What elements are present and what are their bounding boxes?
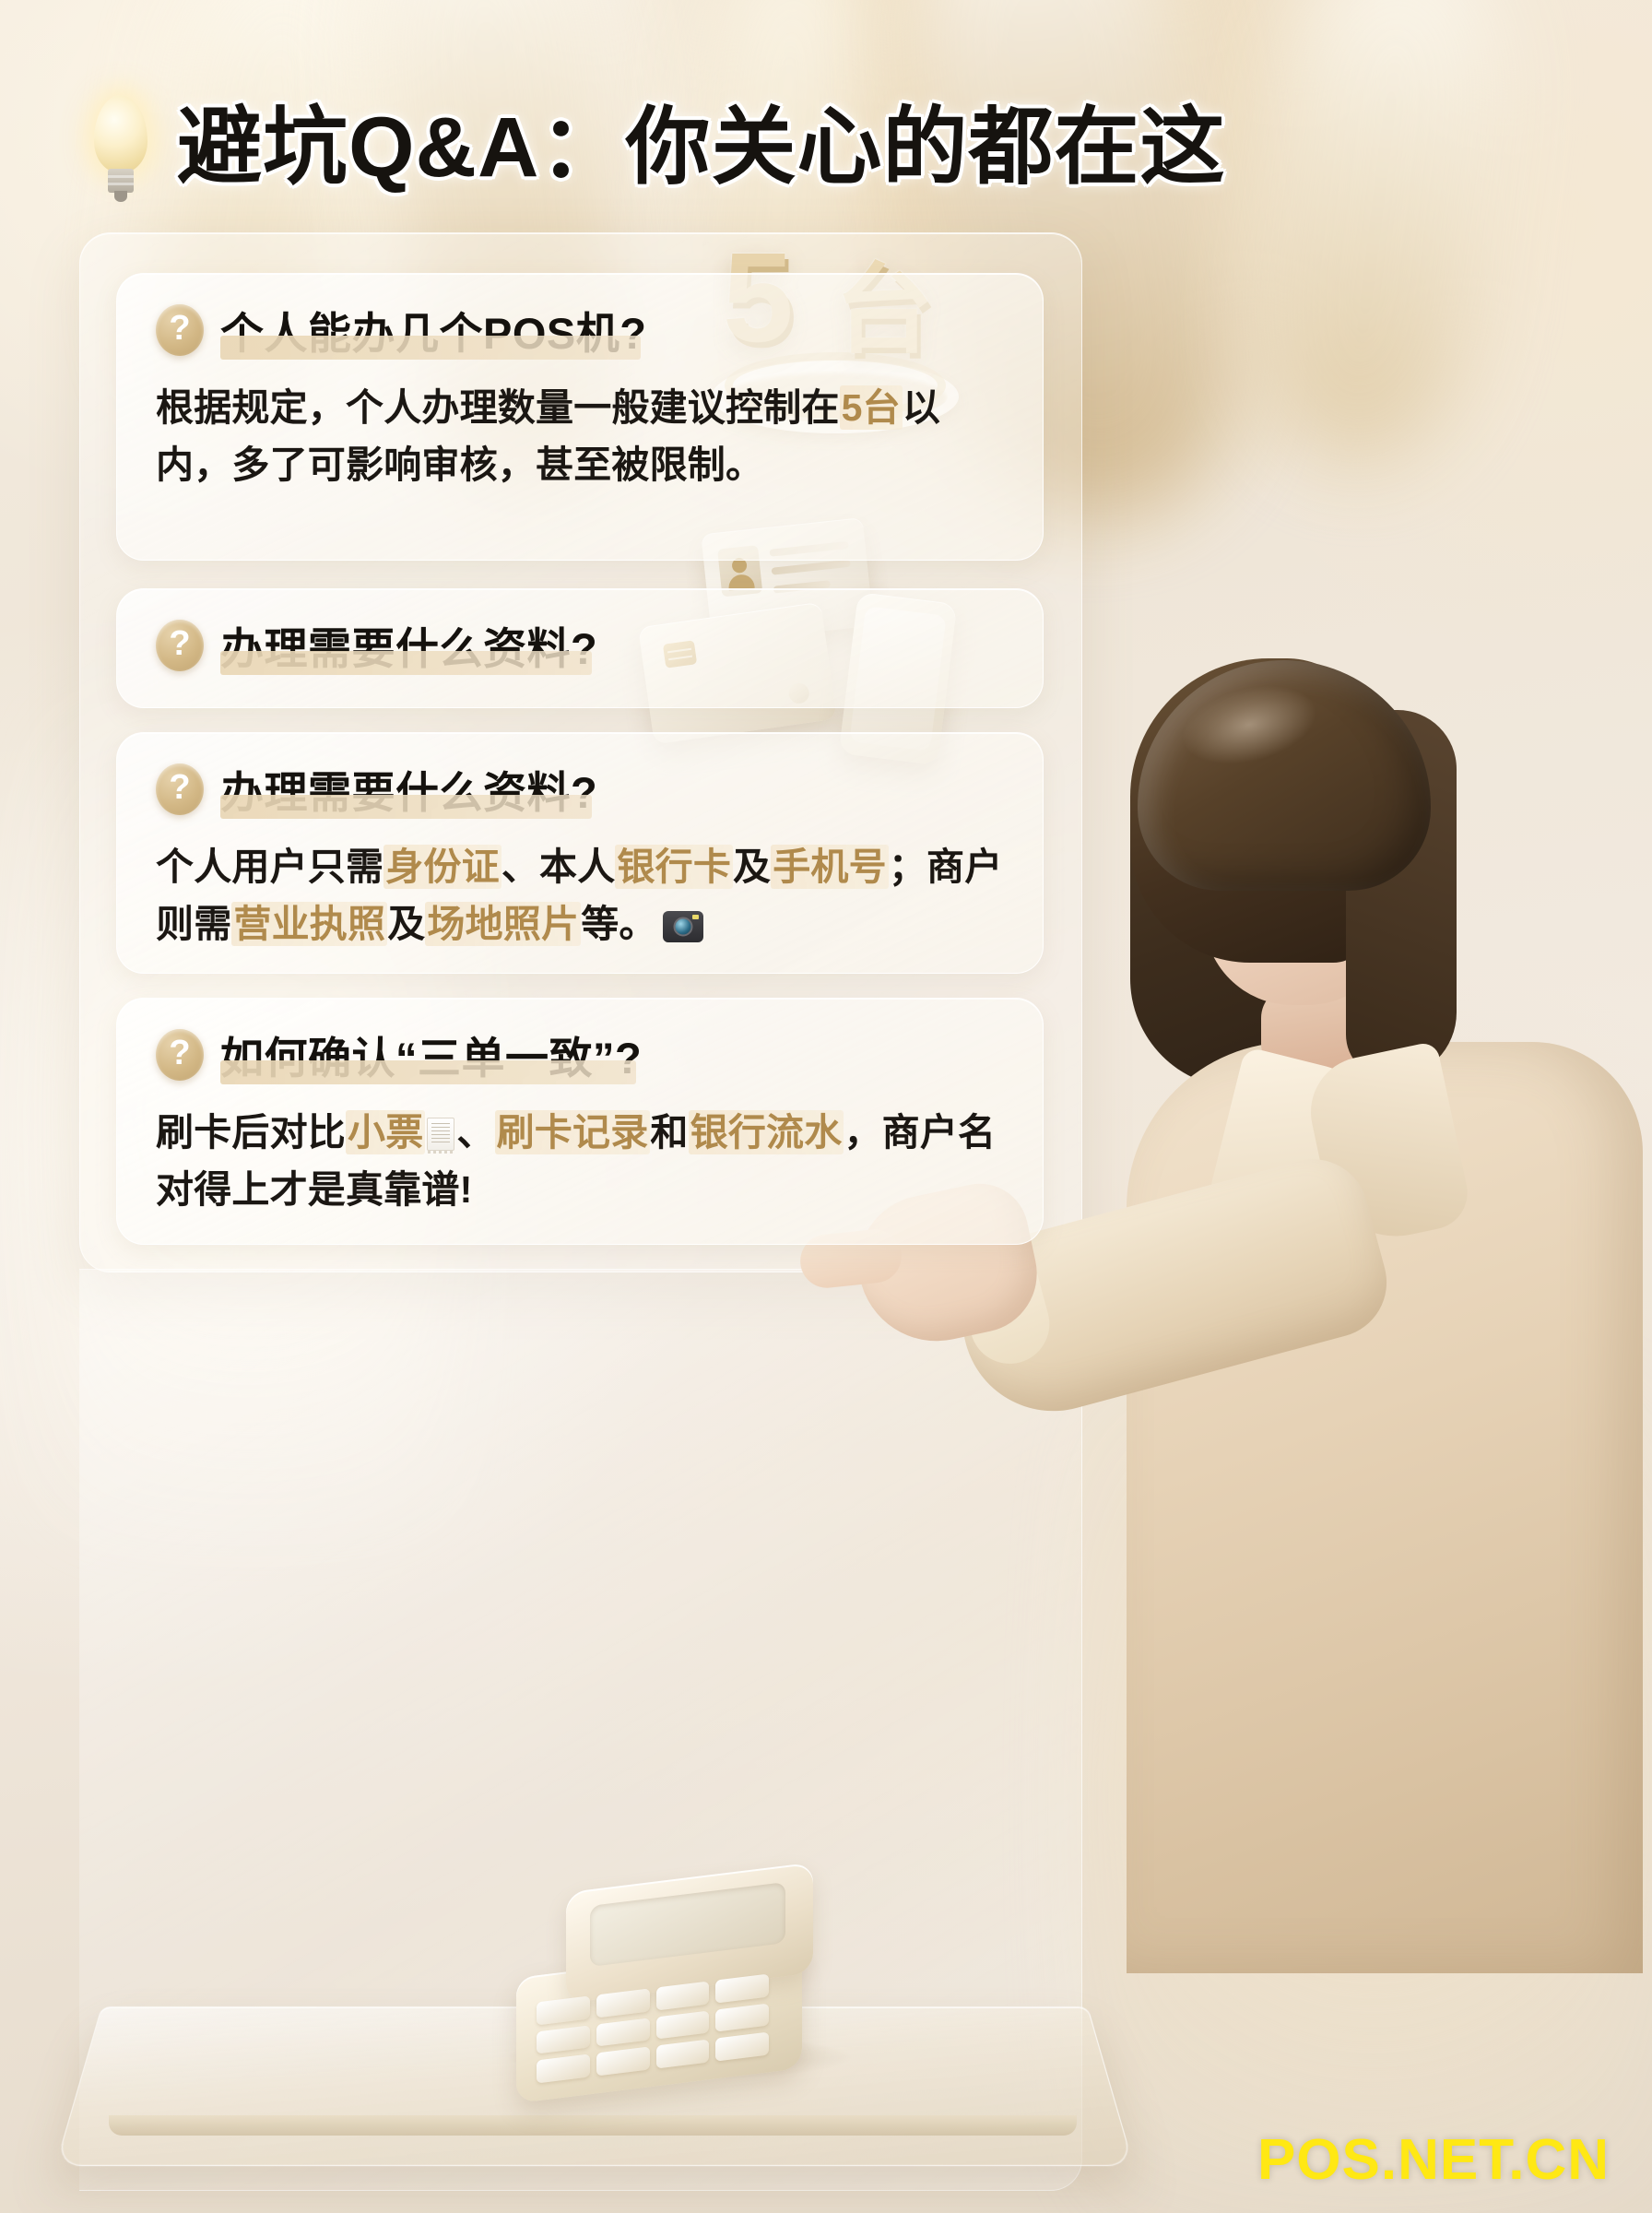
answer-text: 刷卡后对比 [156, 1111, 346, 1154]
pos-key [537, 2025, 590, 2054]
woman-figure-prop [1042, 645, 1652, 2010]
answer-text: 和 [650, 1111, 688, 1154]
answer-keyword: 刷卡记录 [495, 1110, 651, 1154]
faq-question: 办理需要什么资料? [220, 757, 597, 821]
question-highlight-band [220, 336, 641, 360]
faq-card[interactable]: ? 如何确认“三单一致”? 刷卡后对比小票、刷卡记录和银行流水，商户名对得上才是… [116, 998, 1044, 1245]
answer-text: 及 [387, 903, 425, 945]
pos-key [656, 2010, 710, 2040]
answer-keyword: 银行卡 [615, 845, 733, 889]
answer-text: 个人用户只需 [156, 846, 383, 888]
page-header: 避坑Q&A：你关心的都在这 [85, 89, 1173, 208]
answer-keyword: 银行流水 [689, 1110, 844, 1154]
answer-keyword: 场地照片 [425, 902, 581, 946]
faq-question: 办理需要什么资料? [220, 613, 597, 677]
question-mark-icon: ? [156, 620, 204, 671]
question-highlight-band [220, 795, 592, 819]
desk-edge [109, 2115, 1077, 2136]
faq-card[interactable]: ? 办理需要什么资料? 个人用户只需身份证、本人银行卡及手机号；商户则需营业执照… [116, 732, 1044, 974]
site-watermark: POS.NET.CN [1257, 2127, 1610, 2193]
answer-keyword: 5台 [840, 385, 903, 430]
question-highlight-band [220, 651, 592, 675]
question-mark-icon: ? [156, 1029, 204, 1081]
faq-card[interactable]: ? 个人能办几个POS机? 根据规定，个人办理数量一般建议控制在5台以内，多了可… [116, 273, 1044, 561]
pos-key [715, 2003, 769, 2032]
lightbulb-cap [108, 169, 134, 193]
answer-keyword: 身份证 [383, 845, 501, 889]
question-mark-icon: ? [156, 304, 204, 356]
lightbulb-icon [85, 95, 157, 202]
faq-answer: 刷卡后对比小票、刷卡记录和银行流水，商户名对得上才是真靠谱! [156, 1105, 1004, 1218]
answer-keyword: 营业执照 [231, 902, 387, 946]
answer-keyword: 小票 [346, 1110, 425, 1154]
faq-answer: 根据规定，个人办理数量一般建议控制在5台以内，多了可影响审核，甚至被限制。 [156, 380, 1004, 493]
answer-keyword: 手机号 [771, 845, 889, 889]
answer-text: 等。 [581, 903, 656, 945]
faq-question: 个人能办几个POS机? [220, 298, 646, 361]
page-title: 避坑Q&A：你关心的都在这 [177, 104, 1225, 193]
answer-text: 、 [456, 1111, 494, 1154]
faq-question: 如何确认“三单一致”? [220, 1023, 642, 1086]
question-mark-icon: ? [156, 763, 204, 815]
pos-key [596, 2018, 650, 2047]
faq-question-row[interactable]: ? 办理需要什么资料? [156, 757, 1004, 821]
question-highlight-band [220, 1060, 636, 1084]
faq-question-row[interactable]: ? 如何确认“三单一致”? [156, 1023, 1004, 1086]
lightbulb-tip [114, 191, 127, 202]
camera-icon [663, 911, 703, 942]
faq-card[interactable]: ? 办理需要什么资料? [116, 588, 1044, 708]
faq-question-row[interactable]: ? 办理需要什么资料? [156, 613, 1004, 677]
faq-answer: 个人用户只需身份证、本人银行卡及手机号；商户则需营业执照及场地照片等。 [156, 839, 1004, 953]
pos-terminal-prop [516, 1872, 839, 2093]
faq-question-row[interactable]: ? 个人能办几个POS机? [156, 298, 1004, 361]
answer-text: 、本人 [501, 846, 616, 888]
receipt-icon [427, 1118, 454, 1151]
answer-text: 及 [733, 846, 771, 888]
lightbulb-glass [94, 95, 147, 172]
answer-text: 根据规定，个人办理数量一般建议控制在 [156, 386, 840, 429]
